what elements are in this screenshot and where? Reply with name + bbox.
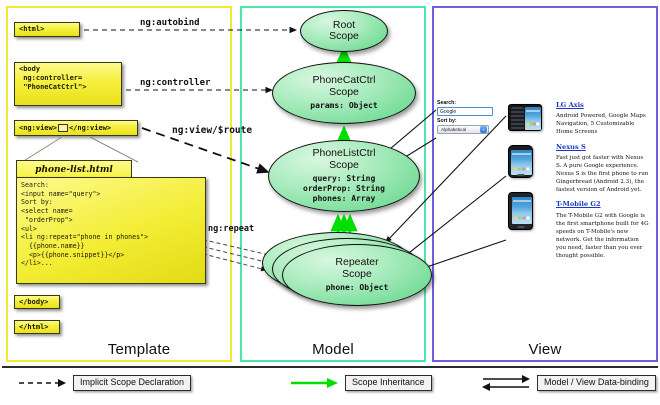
- legend-item-data-binding: Model / View Data-binding: [482, 375, 656, 391]
- statusbar-icon: [526, 110, 540, 112]
- diagram-canvas: Template Model View: [0, 0, 660, 405]
- legend-divider: [2, 366, 658, 368]
- statusbar-icon: [512, 153, 531, 155]
- home-button-icon: [517, 174, 524, 176]
- phone-link[interactable]: Nexus S: [556, 144, 650, 151]
- view-search-controls: Search: Google Sort by: Alphabetical ↕: [437, 101, 499, 134]
- dashed-arrow-icon: [18, 377, 66, 389]
- scope-phonelistctrl-props: query: String orderProp: String phones: …: [303, 174, 385, 204]
- scope-phonecatctrl: PhoneCatCtrl Scope params: Object: [272, 62, 416, 124]
- scope-phonecatctrl-props: params: Object: [310, 101, 377, 111]
- scope-repeater-props: phone: Object: [326, 283, 389, 293]
- sort-select-value: Alphabetical: [441, 127, 466, 132]
- legend-item-scope-inheritance: Scope Inheritance: [290, 375, 432, 391]
- legend-label: Scope Inheritance: [345, 375, 432, 391]
- note-code: Search: <input name="query"> Sort by: <s…: [16, 177, 206, 284]
- scope-phonecatctrl-title: PhoneCatCtrl Scope: [312, 75, 375, 98]
- home-button-icon: [517, 226, 524, 228]
- list-item: T-Mobile G2 The T-Mobile G2 with Google …: [556, 201, 650, 260]
- app-icons: [513, 214, 531, 222]
- phone-thumbnail-lg-axis: [508, 104, 542, 131]
- scope-root: Root Scope: [300, 10, 388, 52]
- legend-label: Model / View Data-binding: [537, 375, 656, 391]
- list-item: LG Axis Android Powered, Google Maps Nav…: [556, 102, 650, 137]
- app-icons: [512, 165, 531, 173]
- phone-thumbnail-t-mobile-g2: [508, 192, 533, 230]
- chevron-updown-icon: ↕: [480, 126, 487, 133]
- legend: Implicit Scope Declaration Scope Inherit…: [0, 366, 660, 405]
- search-label: Search:: [437, 101, 499, 106]
- note-title: phone-list.html: [16, 160, 132, 178]
- scope-repeater: Repeater Scope phone: Object: [282, 244, 432, 306]
- search-input[interactable]: Google: [437, 107, 493, 116]
- keyboard-icon: [511, 107, 524, 130]
- phone-thumbnail-nexus-s: [508, 145, 533, 178]
- statusbar-icon: [513, 200, 531, 202]
- template-file-note: phone-list.html Search: <input name="que…: [16, 160, 206, 284]
- double-arrow-icon: [482, 375, 530, 391]
- sort-select[interactable]: Alphabetical ↕: [437, 125, 489, 134]
- phone-thumbnail-list: [508, 104, 546, 244]
- app-icons: [526, 120, 540, 128]
- phone-snippet: Android Powered, Google Maps Navigation,…: [556, 112, 650, 136]
- scope-repeater-title: Repeater Scope: [335, 257, 378, 280]
- sort-control: Sort by: Alphabetical ↕: [437, 119, 499, 134]
- legend-label: Implicit Scope Declaration: [73, 375, 191, 391]
- scope-phonelistctrl-title: PhoneListCtrl Scope: [312, 148, 375, 171]
- phone-screen: [511, 150, 532, 175]
- phone-link[interactable]: LG Axis: [556, 102, 650, 109]
- scope-root-title: Root Scope: [329, 20, 359, 43]
- phone-screen: [512, 197, 532, 224]
- sort-label: Sort by:: [437, 119, 499, 124]
- code-box-body-close: </body>: [14, 295, 60, 309]
- code-box-html-close: </html>: [14, 320, 60, 334]
- phone-link[interactable]: T-Mobile G2: [556, 201, 650, 208]
- green-arrow-icon: [290, 377, 338, 389]
- phone-snippet: Fast just got faster with Nexus S. A pur…: [556, 154, 650, 195]
- legend-item-implicit-scope-declaration: Implicit Scope Declaration: [18, 375, 191, 391]
- list-item: Nexus S Fast just got faster with Nexus …: [556, 144, 650, 195]
- phone-screen: [525, 107, 541, 130]
- phone-result-list: LG Axis Android Powered, Google Maps Nav…: [556, 102, 650, 267]
- phone-snippet: The T-Mobile G2 with Google is the first…: [556, 212, 650, 261]
- scope-phonelistctrl: PhoneListCtrl Scope query: String orderP…: [268, 140, 420, 212]
